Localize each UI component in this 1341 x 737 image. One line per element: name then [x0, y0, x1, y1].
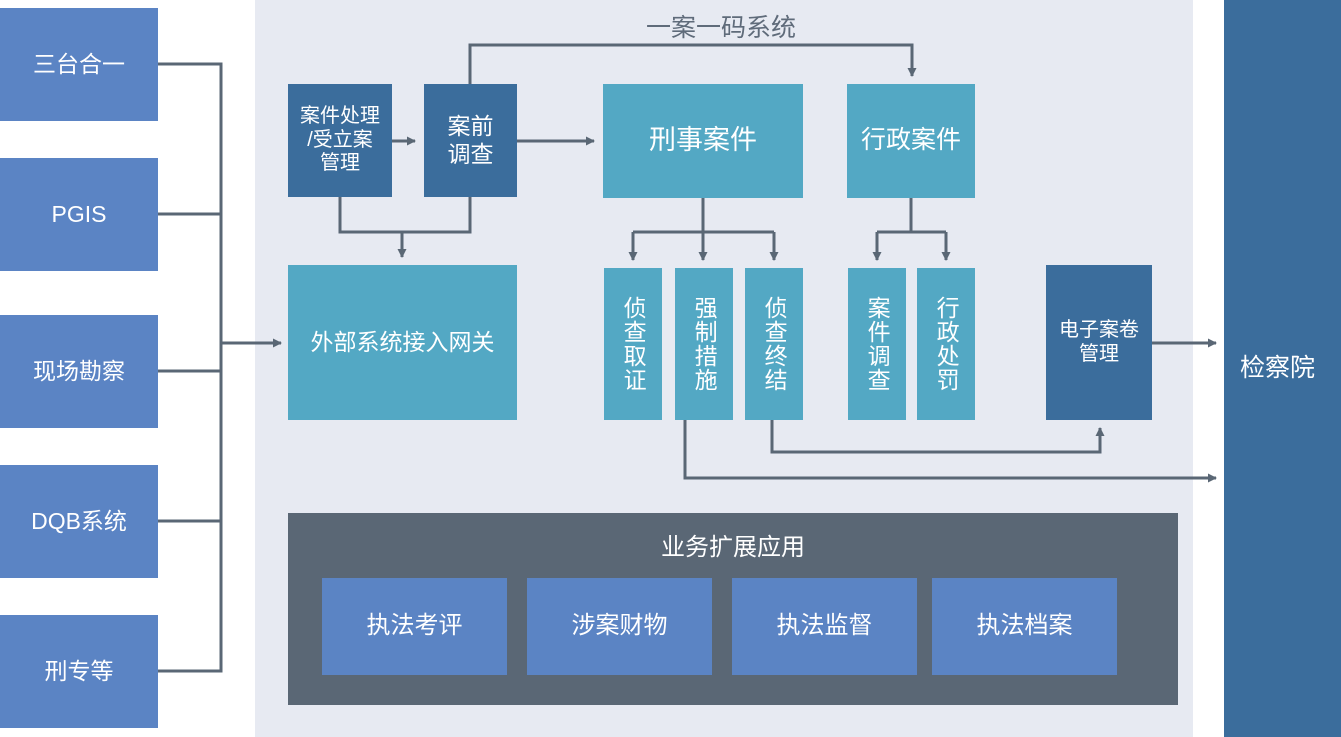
extension-app-2[interactable]: 涉案财物	[527, 578, 712, 675]
node-label: 案件调查	[865, 296, 889, 392]
node-label: 侦查取证	[621, 296, 645, 392]
source-box-4[interactable]: DQB系统	[0, 465, 158, 578]
node-label: 案件处理 /受立案 管理	[300, 105, 380, 176]
node-label: 侦查终结	[762, 296, 786, 392]
node-label: 行政处罚	[934, 296, 958, 392]
extension-app-label: 执法监督	[777, 612, 873, 640]
extension-app-3[interactable]: 执法监督	[732, 578, 917, 675]
source-label: 刑专等	[45, 658, 114, 685]
diagram-canvas: 三台合一 PGIS 现场勘察 DQB系统 刑专等 一案一码系统 案件处理 /受立…	[0, 0, 1341, 737]
node-pre-case-inquiry[interactable]: 案前 调查	[424, 84, 517, 197]
source-label: DQB系统	[31, 508, 127, 535]
source-label: 三台合一	[33, 51, 125, 78]
node-evidence-collection[interactable]: 侦查取证	[604, 268, 662, 420]
node-case-investigation[interactable]: 案件调查	[848, 268, 906, 420]
source-box-1[interactable]: 三台合一	[0, 8, 158, 121]
node-coercive-measures[interactable]: 强制措施	[675, 268, 733, 420]
node-external-gateway[interactable]: 外部系统接入网关	[288, 265, 517, 420]
extension-app-1[interactable]: 执法考评	[322, 578, 507, 675]
node-label: 行政案件	[861, 126, 961, 156]
node-label: 外部系统接入网关	[311, 329, 495, 356]
node-case-intake[interactable]: 案件处理 /受立案 管理	[288, 84, 392, 197]
node-electronic-case-file[interactable]: 电子案卷 管理	[1046, 265, 1152, 420]
source-box-3[interactable]: 现场勘察	[0, 315, 158, 428]
source-box-5[interactable]: 刑专等	[0, 615, 158, 728]
system-title: 一案一码系统	[646, 8, 796, 44]
node-administrative-penalty[interactable]: 行政处罚	[917, 268, 975, 420]
extension-app-label: 涉案财物	[572, 612, 668, 640]
source-box-2[interactable]: PGIS	[0, 158, 158, 271]
extension-app-4[interactable]: 执法档案	[932, 578, 1117, 675]
node-admin-case[interactable]: 行政案件	[847, 84, 975, 198]
node-investigation-closure[interactable]: 侦查终结	[745, 268, 803, 420]
node-label: 刑事案件	[649, 125, 757, 157]
source-label: PGIS	[52, 201, 107, 228]
source-label: 现场勘察	[33, 358, 125, 385]
extension-panel-title: 业务扩展应用	[288, 527, 1178, 562]
node-label: 电子案卷 管理	[1059, 319, 1139, 366]
extension-app-label: 执法档案	[977, 612, 1073, 640]
node-label: 案前 调查	[448, 113, 494, 167]
node-criminal-case[interactable]: 刑事案件	[603, 84, 803, 198]
node-label: 强制措施	[692, 296, 716, 392]
procuratorate-label: 检察院	[1240, 348, 1315, 384]
extension-app-label: 执法考评	[367, 612, 463, 640]
